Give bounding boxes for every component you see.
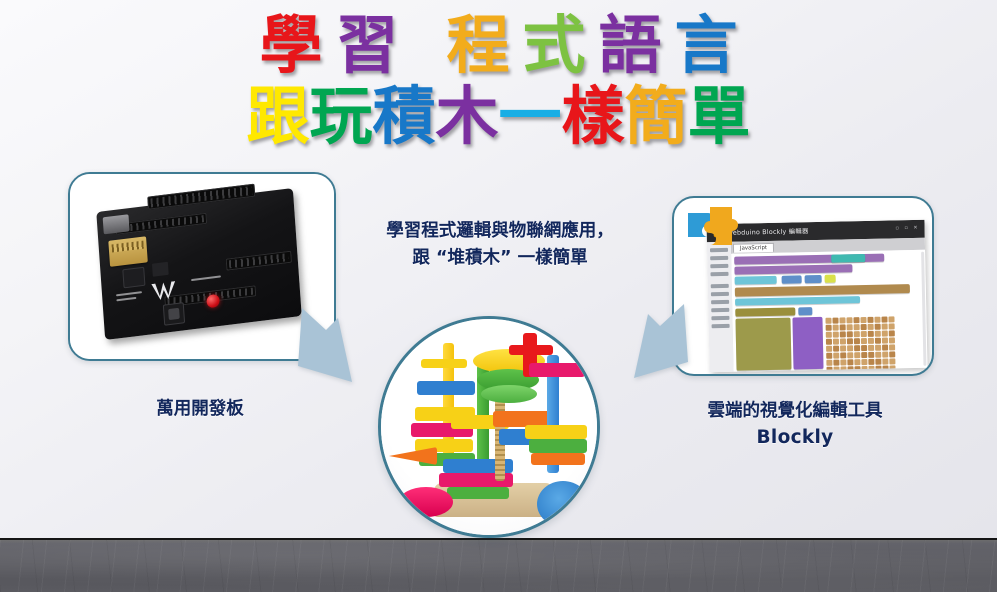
headline-char: 積	[373, 85, 436, 148]
block	[421, 359, 467, 368]
headline-char: 學	[260, 14, 323, 77]
arrow-down-right-panel	[620, 304, 690, 382]
window-controls-icon: ▫ ▫ ✕	[895, 225, 919, 232]
arrow-down-left-panel	[296, 308, 366, 386]
block	[805, 275, 822, 283]
headline-char: 語	[599, 14, 662, 77]
silkscreen-line	[116, 297, 136, 301]
pin-header-right	[226, 251, 292, 271]
block	[447, 487, 509, 499]
headline-char: 習	[336, 14, 399, 77]
toy-illustration	[381, 319, 597, 535]
reset-button	[163, 302, 185, 326]
headline-char: 樣	[562, 85, 625, 148]
disc-pink	[399, 487, 453, 517]
board-pcb	[96, 188, 301, 340]
block	[831, 254, 865, 263]
usb-connector	[103, 214, 130, 234]
headline-char: 式	[523, 14, 586, 77]
triangle-piece	[389, 447, 437, 465]
block	[735, 284, 910, 297]
headline-char: 單	[688, 85, 751, 148]
headline-char: 程	[447, 14, 510, 77]
block	[735, 276, 777, 285]
block	[529, 439, 587, 453]
wifi-module	[108, 236, 148, 267]
right-caption-line-1: 雲端的視覺化編輯工具	[708, 401, 883, 421]
block	[509, 345, 553, 355]
block	[825, 275, 836, 283]
block	[734, 264, 852, 274]
block	[735, 296, 860, 306]
development-board-photo	[70, 174, 334, 359]
wooden-blocks-photo	[378, 316, 600, 538]
center-caption: 學習程式邏輯與物聯網應用， 跟 “堆積木” 一樣簡單	[330, 218, 670, 272]
block	[782, 275, 802, 283]
floor-band	[0, 538, 997, 592]
block-stack	[792, 317, 823, 370]
disc-blue	[537, 481, 589, 527]
center-caption-line-1: 學習程式邏輯與物聯網應用，	[330, 218, 670, 245]
block	[417, 381, 475, 395]
center-caption-line-2: 跟 “堆積木” 一樣簡單	[330, 245, 670, 272]
headline-char: 言	[675, 14, 738, 77]
headline-char: 玩	[310, 85, 373, 148]
power-led	[206, 294, 220, 309]
block	[531, 453, 585, 465]
puzzle-piece-icon	[684, 203, 760, 263]
microcontroller-chip	[122, 267, 145, 289]
led-matrix-grid	[825, 316, 895, 371]
blockly-workspace	[731, 250, 927, 372]
block	[529, 363, 585, 377]
block-stack	[735, 318, 791, 371]
block	[798, 307, 812, 315]
left-panel-caption: 萬用開發板	[60, 395, 340, 420]
headline: 學習程式語言 跟玩積木一樣簡單	[0, 14, 997, 148]
headline-char: 簡	[625, 85, 688, 148]
workspace-scrollbar[interactable]	[921, 252, 926, 366]
headline-char: 跟	[247, 85, 310, 148]
headline-char: 木	[436, 85, 499, 148]
regulator-chip	[152, 262, 169, 277]
headline-line-2: 跟玩積木一樣簡單	[0, 85, 997, 148]
disc-green-2	[481, 385, 537, 403]
silkscreen-line	[116, 291, 142, 296]
right-panel-caption: 雲端的視覺化編輯工具 Blockly	[645, 398, 945, 452]
slide-canvas: 學習程式語言 跟玩積木一樣簡單	[0, 0, 997, 592]
pin-header-top	[147, 184, 255, 210]
block	[525, 425, 587, 439]
block	[735, 307, 795, 316]
right-caption-line-2: Blockly	[645, 424, 945, 452]
silkscreen-line	[191, 275, 221, 281]
headline-line-1: 學習程式語言	[0, 14, 997, 77]
headline-char: 一	[499, 85, 562, 148]
